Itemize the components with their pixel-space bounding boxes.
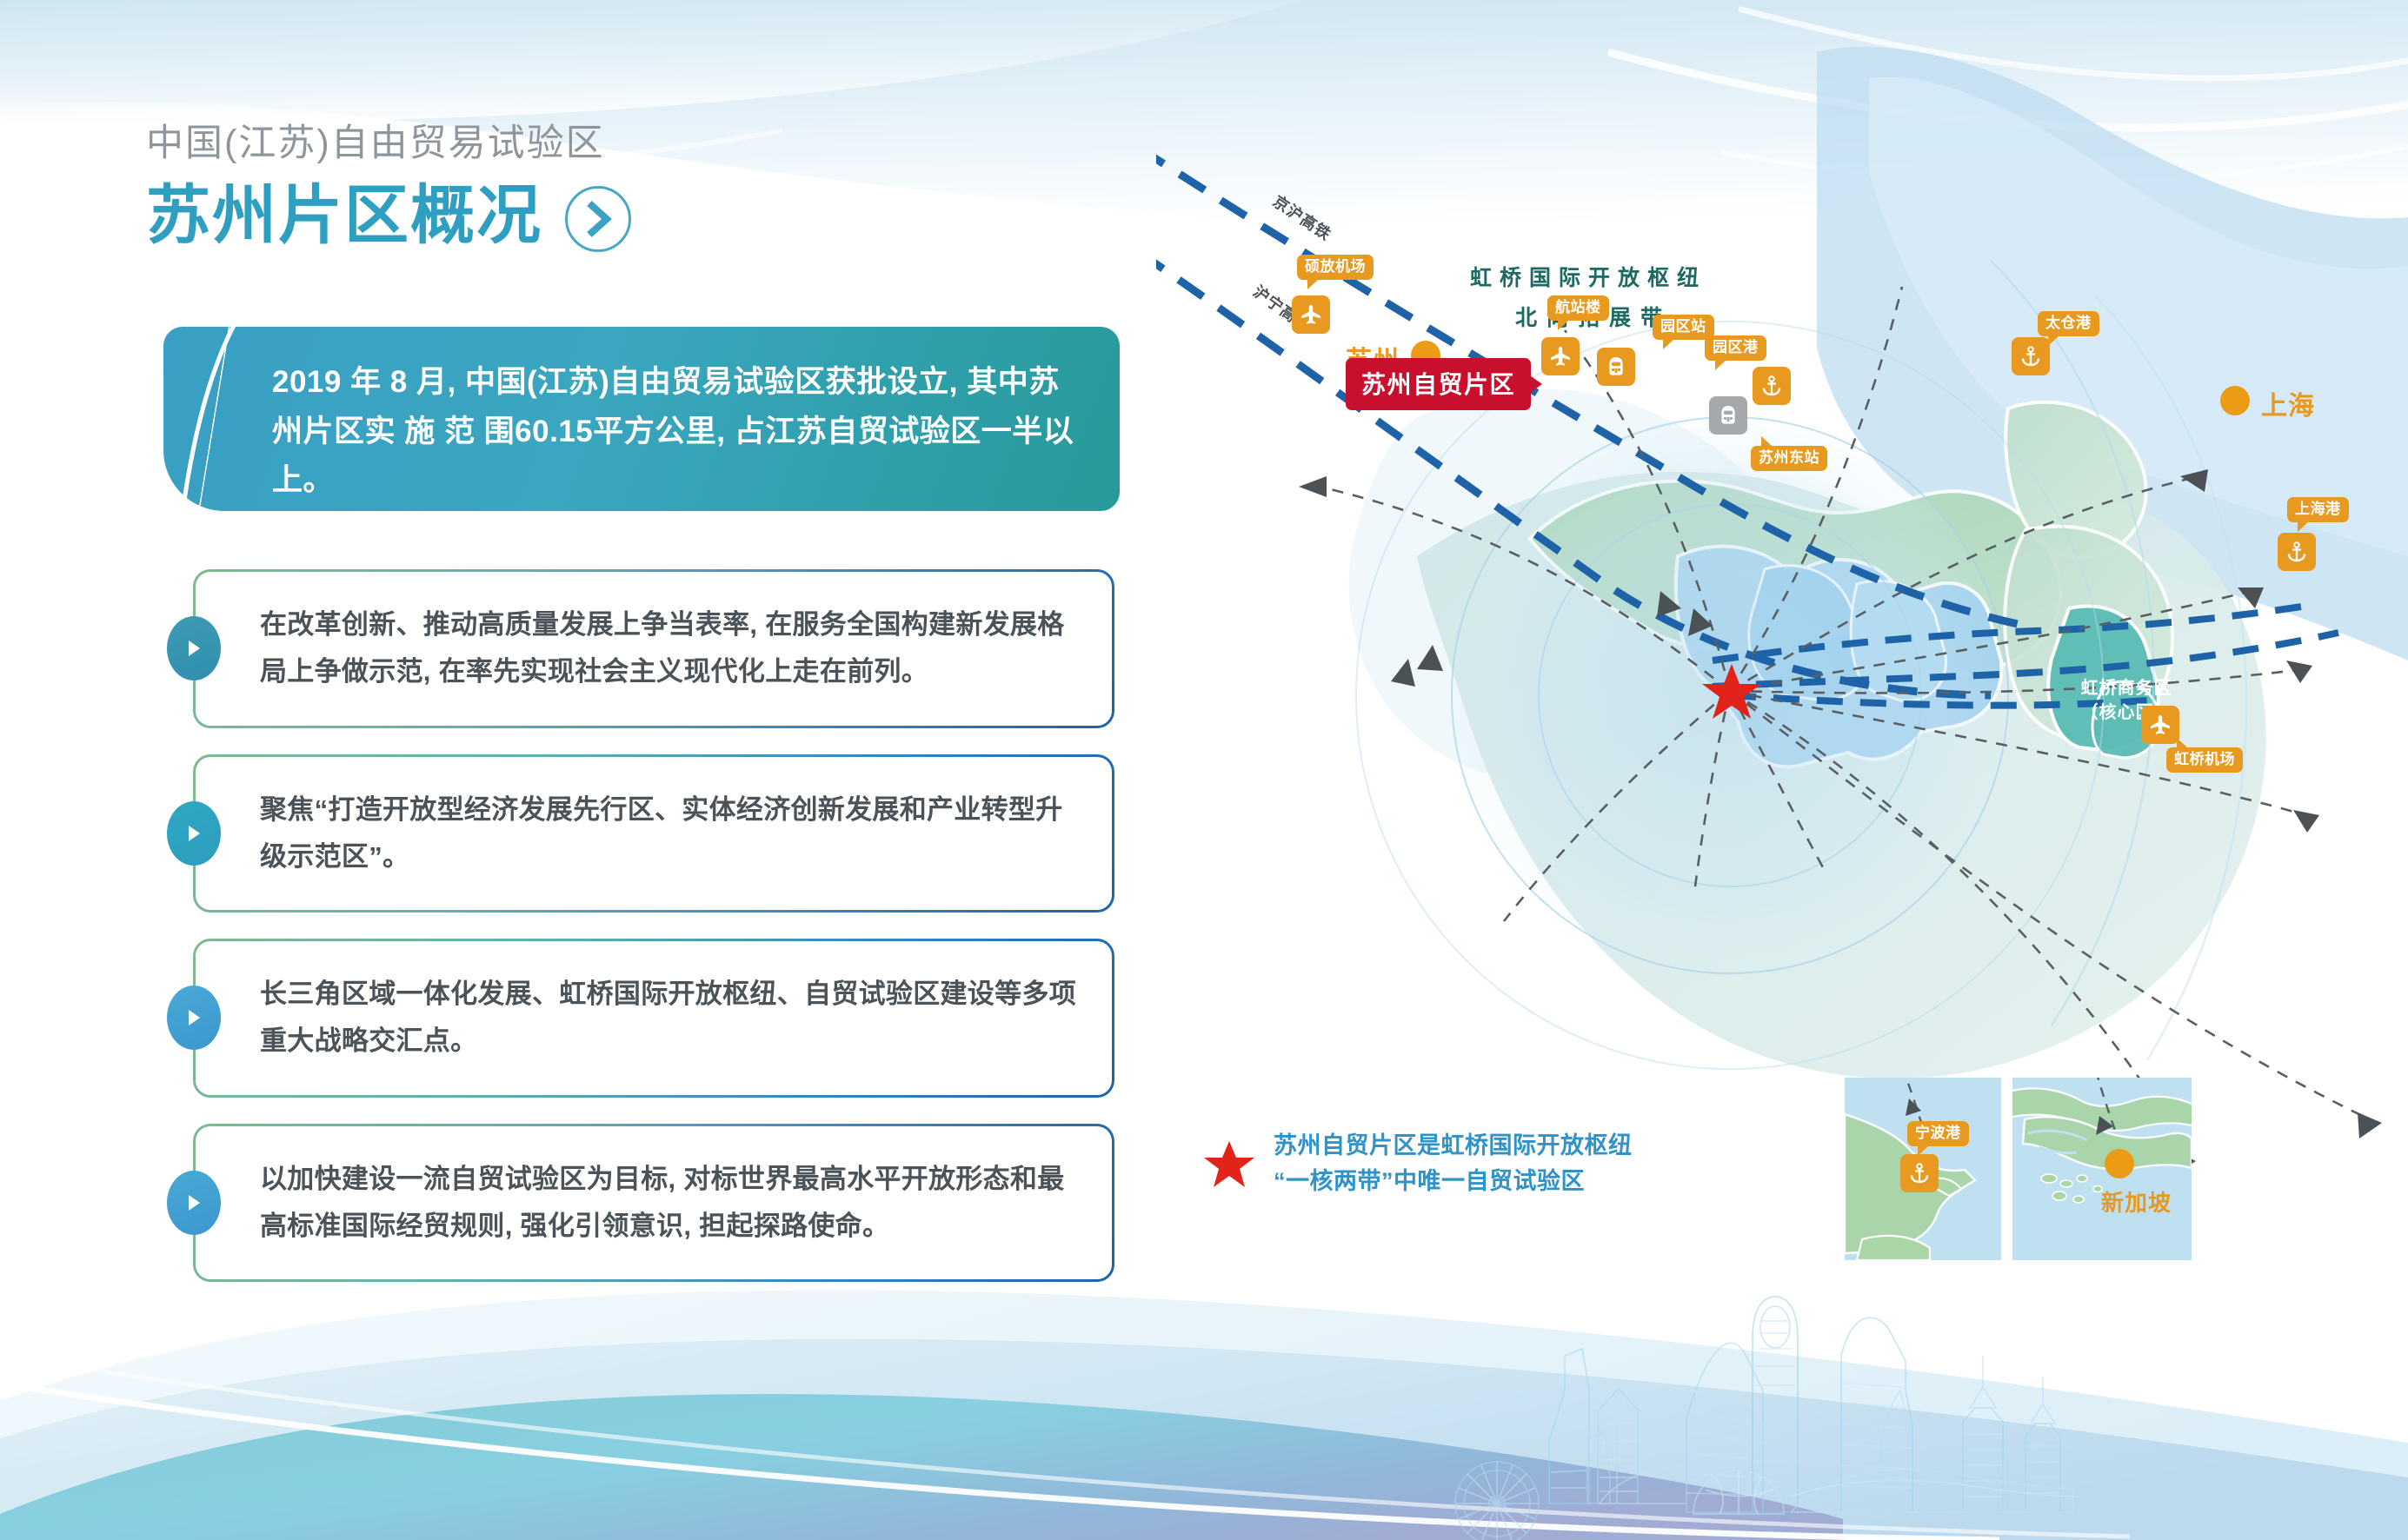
- play-triangle-icon: [167, 1171, 221, 1235]
- hero-text: 2019 年 8 月, 中国(江苏)自由贸易试验区获批设立, 其中苏州片区实 施…: [272, 358, 1085, 506]
- hero-slash-decoration: [158, 306, 263, 532]
- pin-label-shuofang-airport[interactable]: 硕放机场: [1297, 255, 1374, 280]
- inset-singapore-graphics: [2012, 1078, 2192, 1260]
- play-triangle-icon: [167, 616, 221, 680]
- ftz-badge-suzhou[interactable]: 苏州自贸片区: [1346, 358, 1531, 410]
- list-item-label: 聚焦“打造开放型经济发展先行区、实体经济创新发展和产业转型升级示范区”。: [260, 787, 1077, 881]
- anchor-icon[interactable]: [1900, 1154, 1939, 1192]
- list-item-label: 在改革创新、推动高质量发展上争当表率, 在服务全国构建新发展格局上争做示范, 在…: [260, 601, 1077, 696]
- airplane-icon[interactable]: [2141, 706, 2179, 744]
- bullet-list: 在改革创新、推动高质量发展上争当表率, 在服务全国构建新发展格局上争做示范, 在…: [193, 569, 1114, 1308]
- pin-label-yuanqu-station[interactable]: 园区站: [1653, 315, 1714, 340]
- red-star-icon: [1204, 1139, 1254, 1188]
- train-icon[interactable]: [1597, 348, 1635, 386]
- list-item[interactable]: 聚焦“打造开放型经济发展先行区、实体经济创新发展和产业转型升级示范区”。: [193, 754, 1114, 913]
- page-title-block: 中国(江苏)自由贸易试验区 苏州片区概况: [146, 113, 631, 252]
- list-item[interactable]: 长三角区域一体化发展、虹桥国际开放枢纽、自贸试验区建设等多项重大战略交汇点。: [193, 939, 1114, 1098]
- pin-label-terminal[interactable]: 航站楼: [1547, 295, 1609, 321]
- legend-line-1: 苏州自贸片区是虹桥国际开放枢纽: [1274, 1128, 1633, 1164]
- anchor-icon[interactable]: [2012, 337, 2050, 375]
- zone-label-hongqiao-cbd-line1: 虹桥商务区: [2081, 678, 2172, 700]
- list-item[interactable]: 以加快建设一流自贸试验区为目标, 对标世界最高水平开放形态和最高标准国际经贸规则…: [193, 1124, 1114, 1283]
- left-content-column: 中国(江苏)自由贸易试验区 苏州片区概况 2019 年 8 月, 中国(江苏)自…: [0, 0, 1156, 1540]
- map-legend: 苏州自贸片区是虹桥国际开放枢纽 “一核两带”中唯一自贸试验区: [1204, 1128, 1633, 1198]
- play-triangle-icon: [167, 986, 221, 1050]
- chevron-right-icon[interactable]: [565, 186, 631, 252]
- inset-city-label-singapore: 新加坡: [2101, 1185, 2172, 1218]
- list-item-label: 以加快建设一流自贸试验区为目标, 对标世界最高水平开放形态和最高标准国际经贸规则…: [260, 1156, 1077, 1251]
- city-dot-singapore: [2105, 1149, 2134, 1178]
- legend-line-2: “一核两带”中唯一自贸试验区: [1274, 1164, 1633, 1199]
- page-title: 苏州片区概况: [146, 182, 542, 249]
- pin-label-hongqiao-airport[interactable]: 虹桥机场: [2166, 747, 2243, 773]
- pin-label-shanghai-port[interactable]: 上海港: [2287, 497, 2349, 522]
- list-item-label: 长三角区域一体化发展、虹桥国际开放枢纽、自贸试验区建设等多项重大战略交汇点。: [260, 971, 1077, 1065]
- page-subtitle: 中国(江苏)自由贸易试验区: [146, 113, 631, 167]
- pin-label-taicang-port[interactable]: 太仓港: [2038, 311, 2099, 336]
- pin-label-yuanqu-port[interactable]: 园区港: [1705, 335, 1766, 361]
- hero-callout-box: 2019 年 8 月, 中国(江苏)自由贸易试验区获批设立, 其中苏州片区实 施…: [163, 327, 1120, 511]
- play-triangle-icon: [167, 801, 221, 866]
- inset-map-singapore: 新加坡: [2012, 1078, 2192, 1260]
- anchor-icon[interactable]: [1753, 367, 1791, 405]
- airplane-icon[interactable]: [1292, 295, 1330, 334]
- anchor-icon[interactable]: [2278, 533, 2316, 571]
- pin-label-suzhou-east-station[interactable]: 苏州东站: [1751, 446, 1827, 471]
- train-icon[interactable]: [1709, 396, 1747, 435]
- regional-connectivity-map: 虹桥国际开放枢纽 北向拓展带 虹桥商务区 （核心区） 京沪高铁 沪宁高铁 苏州 …: [1156, 0, 2408, 1540]
- inset-pin-label-ningbo-port[interactable]: 宁波港: [1907, 1121, 1969, 1146]
- city-dot-shanghai: [2220, 386, 2250, 415]
- list-item[interactable]: 在改革创新、推动高质量发展上争当表率, 在服务全国构建新发展格局上争做示范, 在…: [193, 569, 1114, 728]
- city-label-shanghai: 上海: [2261, 384, 2315, 422]
- region-label-hongqiao-hub: 虹桥国际开放枢纽: [1470, 261, 1706, 292]
- red-star-icon: [1701, 662, 1762, 721]
- inset-map-ningbo: 宁波港: [1845, 1078, 2001, 1260]
- airplane-icon[interactable]: [1541, 337, 1580, 375]
